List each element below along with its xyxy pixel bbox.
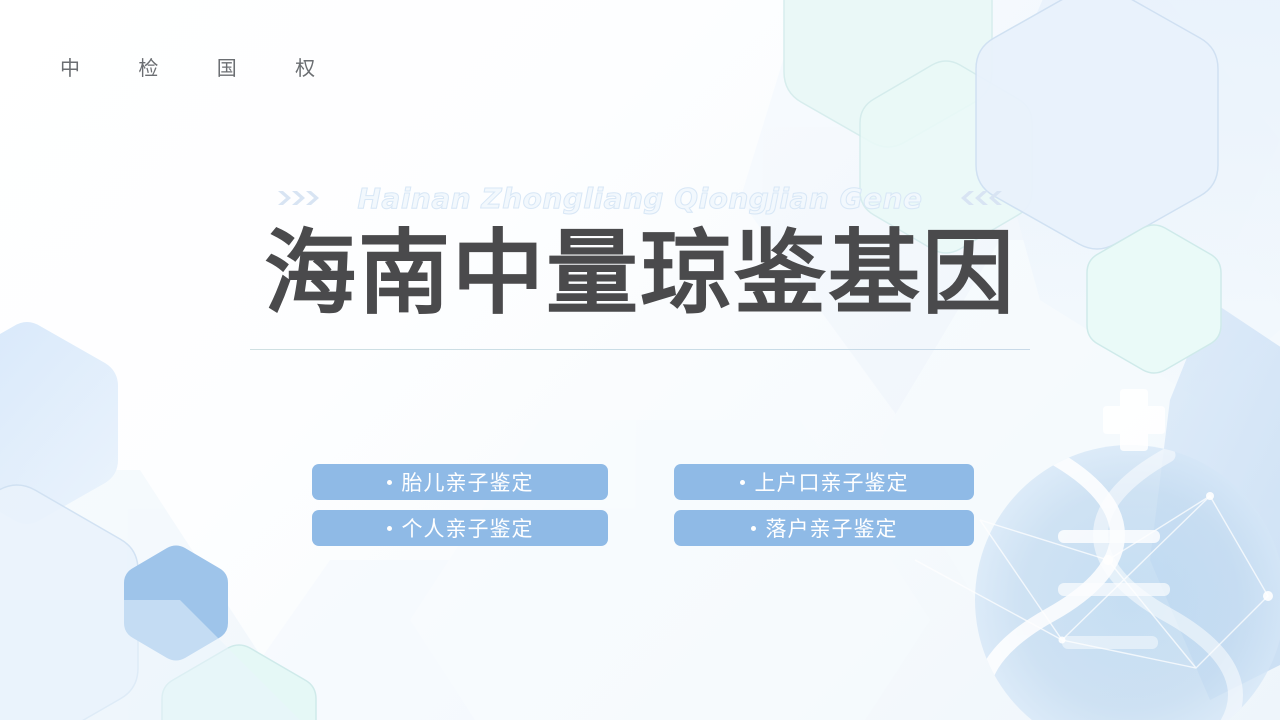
hero-block: Hainan Zhongliang Qiongjian Gene 海南中量琼鉴基… bbox=[0, 178, 1280, 350]
hexagon-left-blue-solid bbox=[124, 546, 228, 661]
chevrons-left-icon bbox=[958, 190, 1004, 206]
polygon-sheets bbox=[0, 0, 1280, 720]
tag-label: 胎儿亲子鉴定 bbox=[402, 467, 534, 497]
tag-label: 落户亲子鉴定 bbox=[766, 513, 898, 543]
bullet-dot-icon bbox=[387, 526, 392, 531]
hexagon-left-blue-2 bbox=[0, 485, 138, 720]
bullet-dot-icon bbox=[751, 526, 756, 531]
tag-row: 胎儿亲子鉴定 上户口亲子鉴定 bbox=[312, 464, 974, 500]
bullet-dot-icon bbox=[740, 480, 745, 485]
eyebrow-row: Hainan Zhongliang Qiongjian Gene bbox=[0, 178, 1280, 218]
tag-label: 上户口亲子鉴定 bbox=[755, 467, 909, 497]
chevrons-right-icon bbox=[276, 190, 322, 206]
bullet-dot-icon bbox=[387, 480, 392, 485]
tag-personal-paternity-test[interactable]: 个人亲子鉴定 bbox=[312, 510, 608, 546]
tag-settlement-paternity-test[interactable]: 落户亲子鉴定 bbox=[674, 510, 974, 546]
background-decoration bbox=[0, 0, 1280, 720]
medical-cross-icon bbox=[1103, 389, 1165, 451]
tag-household-registration-paternity-test[interactable]: 上户口亲子鉴定 bbox=[674, 464, 974, 500]
tag-label: 个人亲子鉴定 bbox=[402, 513, 534, 543]
service-tag-grid: 胎儿亲子鉴定 上户口亲子鉴定 个人亲子鉴定 落户亲子鉴定 bbox=[312, 464, 974, 556]
brand-mark: 中 检 国 权 bbox=[60, 52, 341, 81]
network-nodes bbox=[1059, 492, 1274, 644]
eyebrow-text: Hainan Zhongliang Qiongjian Gene bbox=[358, 182, 923, 215]
hexagon-top-mint-1 bbox=[784, 0, 992, 147]
slide-root: 中 检 国 权 Hainan Zhongliang Qiongjian Gene bbox=[0, 0, 1280, 720]
hexagon-left-blue-1 bbox=[0, 322, 118, 524]
page-title: 海南中量琼鉴基因 bbox=[0, 224, 1280, 323]
hexagon-left-mint bbox=[162, 645, 316, 720]
bottom-left-wash bbox=[0, 600, 300, 720]
title-underline bbox=[250, 349, 1030, 350]
tag-row: 个人亲子鉴定 落户亲子鉴定 bbox=[312, 510, 974, 546]
tag-prenatal-paternity-test[interactable]: 胎儿亲子鉴定 bbox=[312, 464, 608, 500]
